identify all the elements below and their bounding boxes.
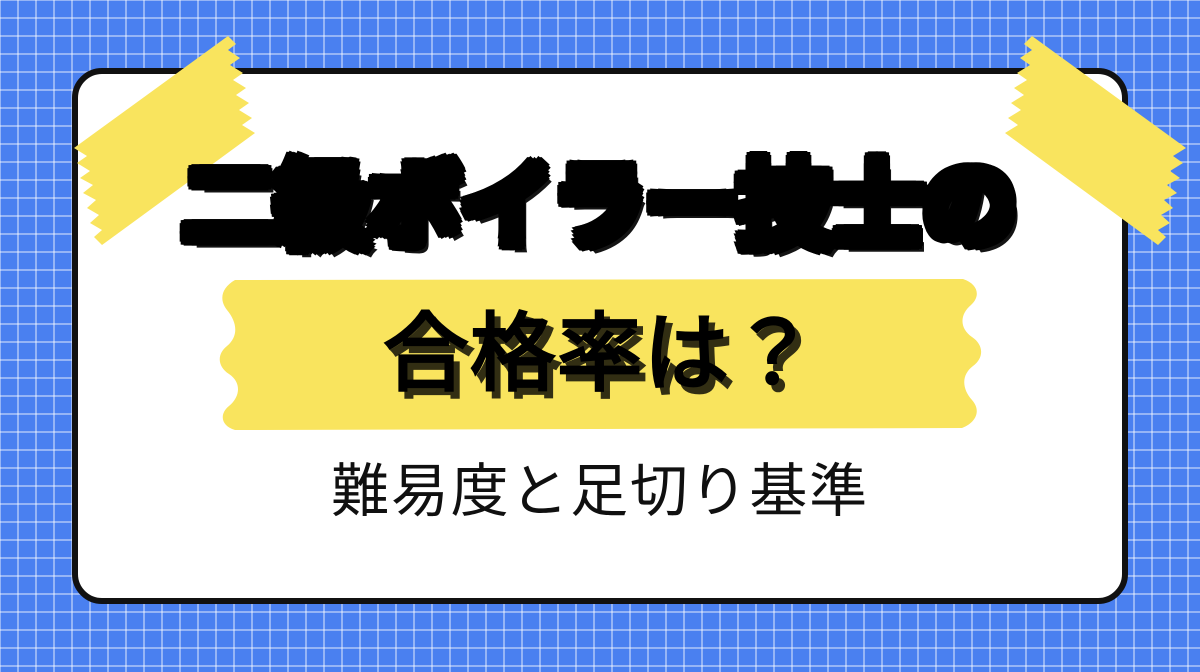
- washi-tape-top-left-icon: [40, 30, 300, 260]
- washi-tape-top-right-icon: [960, 30, 1200, 260]
- thumbnail-canvas: 二級ボイラー技士の 合格率は？ 難易度と足切り基準: [0, 0, 1200, 672]
